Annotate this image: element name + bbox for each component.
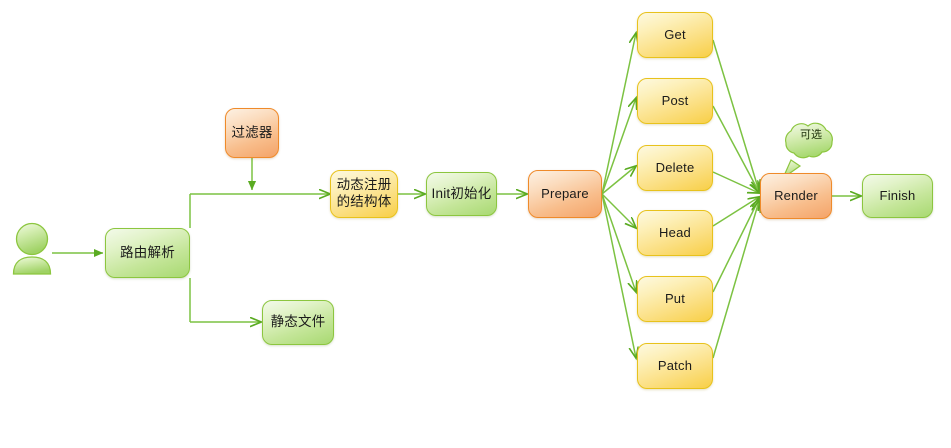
node-dyn-struct-label-line1: 动态注册 — [337, 177, 392, 194]
node-prepare-label: Prepare — [541, 186, 589, 202]
node-init[interactable]: Init初始化 — [426, 172, 497, 216]
edge-post-to-render — [713, 106, 759, 192]
node-init-label: Init初始化 — [432, 186, 492, 203]
edge-delete-to-render — [713, 172, 759, 193]
flowchart-canvas: 路由解析 过滤器 静态文件 动态注册 的结构体 Init初始化 Prepare … — [0, 0, 951, 448]
node-finish[interactable]: Finish — [862, 174, 933, 218]
node-put-label: Put — [665, 291, 685, 307]
node-render[interactable]: Render — [760, 173, 832, 219]
optional-cloud-label: 可选 — [780, 118, 842, 158]
node-dyn-struct[interactable]: 动态注册 的结构体 — [330, 170, 398, 218]
edge-prepare-to-head — [602, 194, 636, 228]
node-put[interactable]: Put — [637, 276, 713, 322]
optional-cloud: 可选 — [780, 118, 842, 158]
node-get-label: Get — [664, 27, 686, 43]
node-dyn-struct-label-line2: 的结构体 — [337, 194, 392, 211]
node-route-parse[interactable]: 路由解析 — [105, 228, 190, 278]
node-delete[interactable]: Delete — [637, 145, 713, 191]
node-patch[interactable]: Patch — [637, 343, 713, 389]
node-get[interactable]: Get — [637, 12, 713, 58]
node-render-label: Render — [774, 188, 818, 204]
node-patch-label: Patch — [658, 358, 692, 374]
node-prepare[interactable]: Prepare — [528, 170, 602, 218]
node-delete-label: Delete — [656, 160, 695, 176]
node-post-label: Post — [662, 93, 689, 109]
node-head-label: Head — [659, 225, 691, 241]
node-static-file[interactable]: 静态文件 — [262, 300, 334, 345]
user-actor-glyph — [14, 224, 51, 275]
edge-layer — [0, 0, 951, 448]
edge-get-to-render — [713, 40, 759, 191]
node-post[interactable]: Post — [637, 78, 713, 124]
node-filter[interactable]: 过滤器 — [225, 108, 279, 158]
node-route-parse-label: 路由解析 — [120, 245, 175, 262]
node-filter-label: 过滤器 — [231, 125, 272, 142]
node-static-file-label: 静态文件 — [271, 314, 326, 331]
node-head[interactable]: Head — [637, 210, 713, 256]
node-finish-label: Finish — [880, 188, 916, 204]
